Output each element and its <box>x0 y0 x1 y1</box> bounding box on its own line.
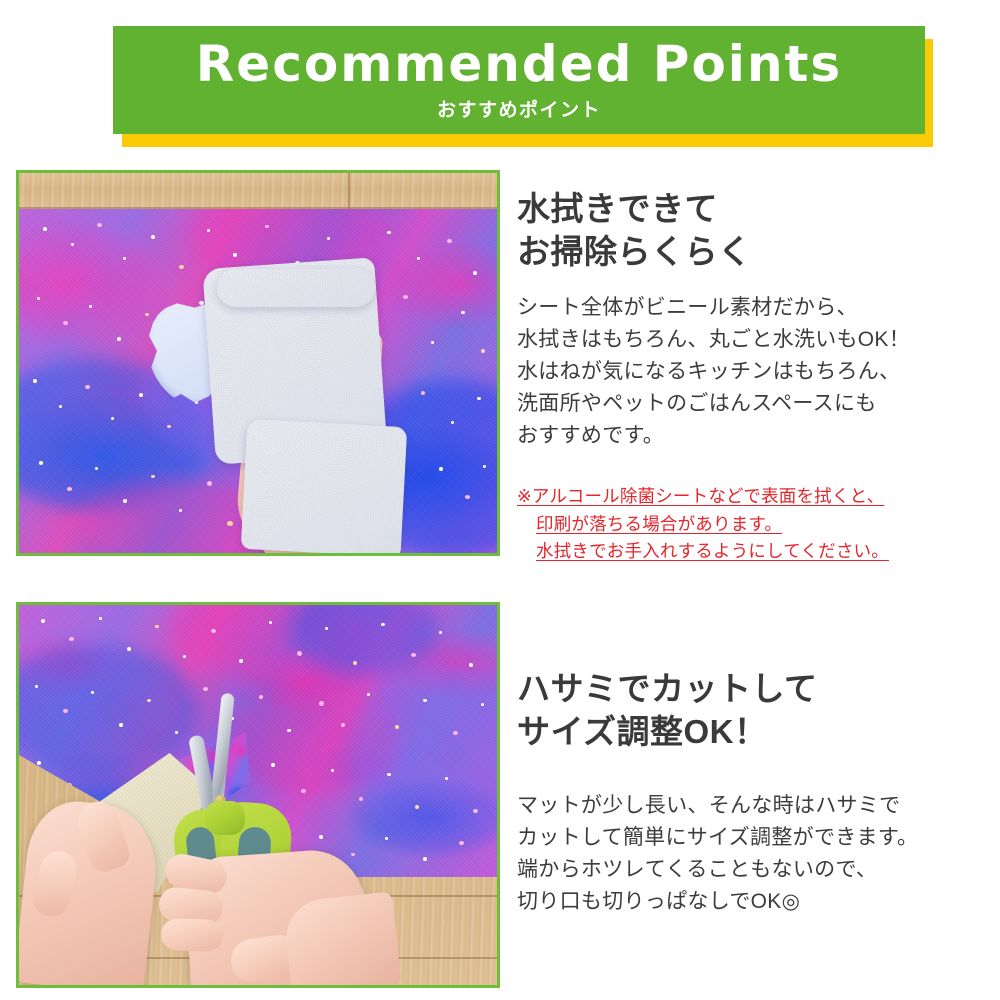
section-1-warning-note: ※アルコール除菌シートなどで表面を拭くと、 印刷が落ちる場合があります。 水拭き… <box>517 483 889 566</box>
note-line-3: 水拭きでお手入れするようにしてください。 <box>517 538 889 566</box>
photo-2-content <box>19 605 497 985</box>
photo-1-content <box>19 173 497 553</box>
section-2-heading: ハサミでカットして サイズ調整OK！ <box>517 668 818 754</box>
section-1-body: シート全体がビニール素材だから、 水拭きはもちろん、丸ごと水洗いもOK！ 水はね… <box>517 292 910 452</box>
section-2-body: マットが少し長い、そんな時はハサミで カットして簡単にサイズ調整ができます。 端… <box>517 790 918 918</box>
towel-edge-highlight <box>217 269 375 307</box>
photo-cut-with-scissors <box>16 602 500 988</box>
note-line-1: ※アルコール除菌シートなどで表面を拭くと、 <box>517 483 889 511</box>
photo-wipe-with-towel <box>16 170 500 556</box>
plank-seam-vertical <box>348 173 350 209</box>
towel-fold-lower <box>241 419 408 553</box>
page-subtitle: おすすめポイント <box>437 95 601 122</box>
wood-floor-strip <box>19 173 497 209</box>
section-1-heading: 水拭きできて お掃除らくらく <box>517 188 752 274</box>
page-title: Recommended Points <box>196 39 842 89</box>
banner-green-block: Recommended Points おすすめポイント <box>113 26 925 134</box>
right-hand-finger-3 <box>160 918 223 952</box>
header-banner: Recommended Points おすすめポイント <box>0 0 1000 160</box>
scissor-handle-bridge <box>205 801 245 835</box>
note-line-2: 印刷が落ちる場合があります。 <box>517 511 889 539</box>
